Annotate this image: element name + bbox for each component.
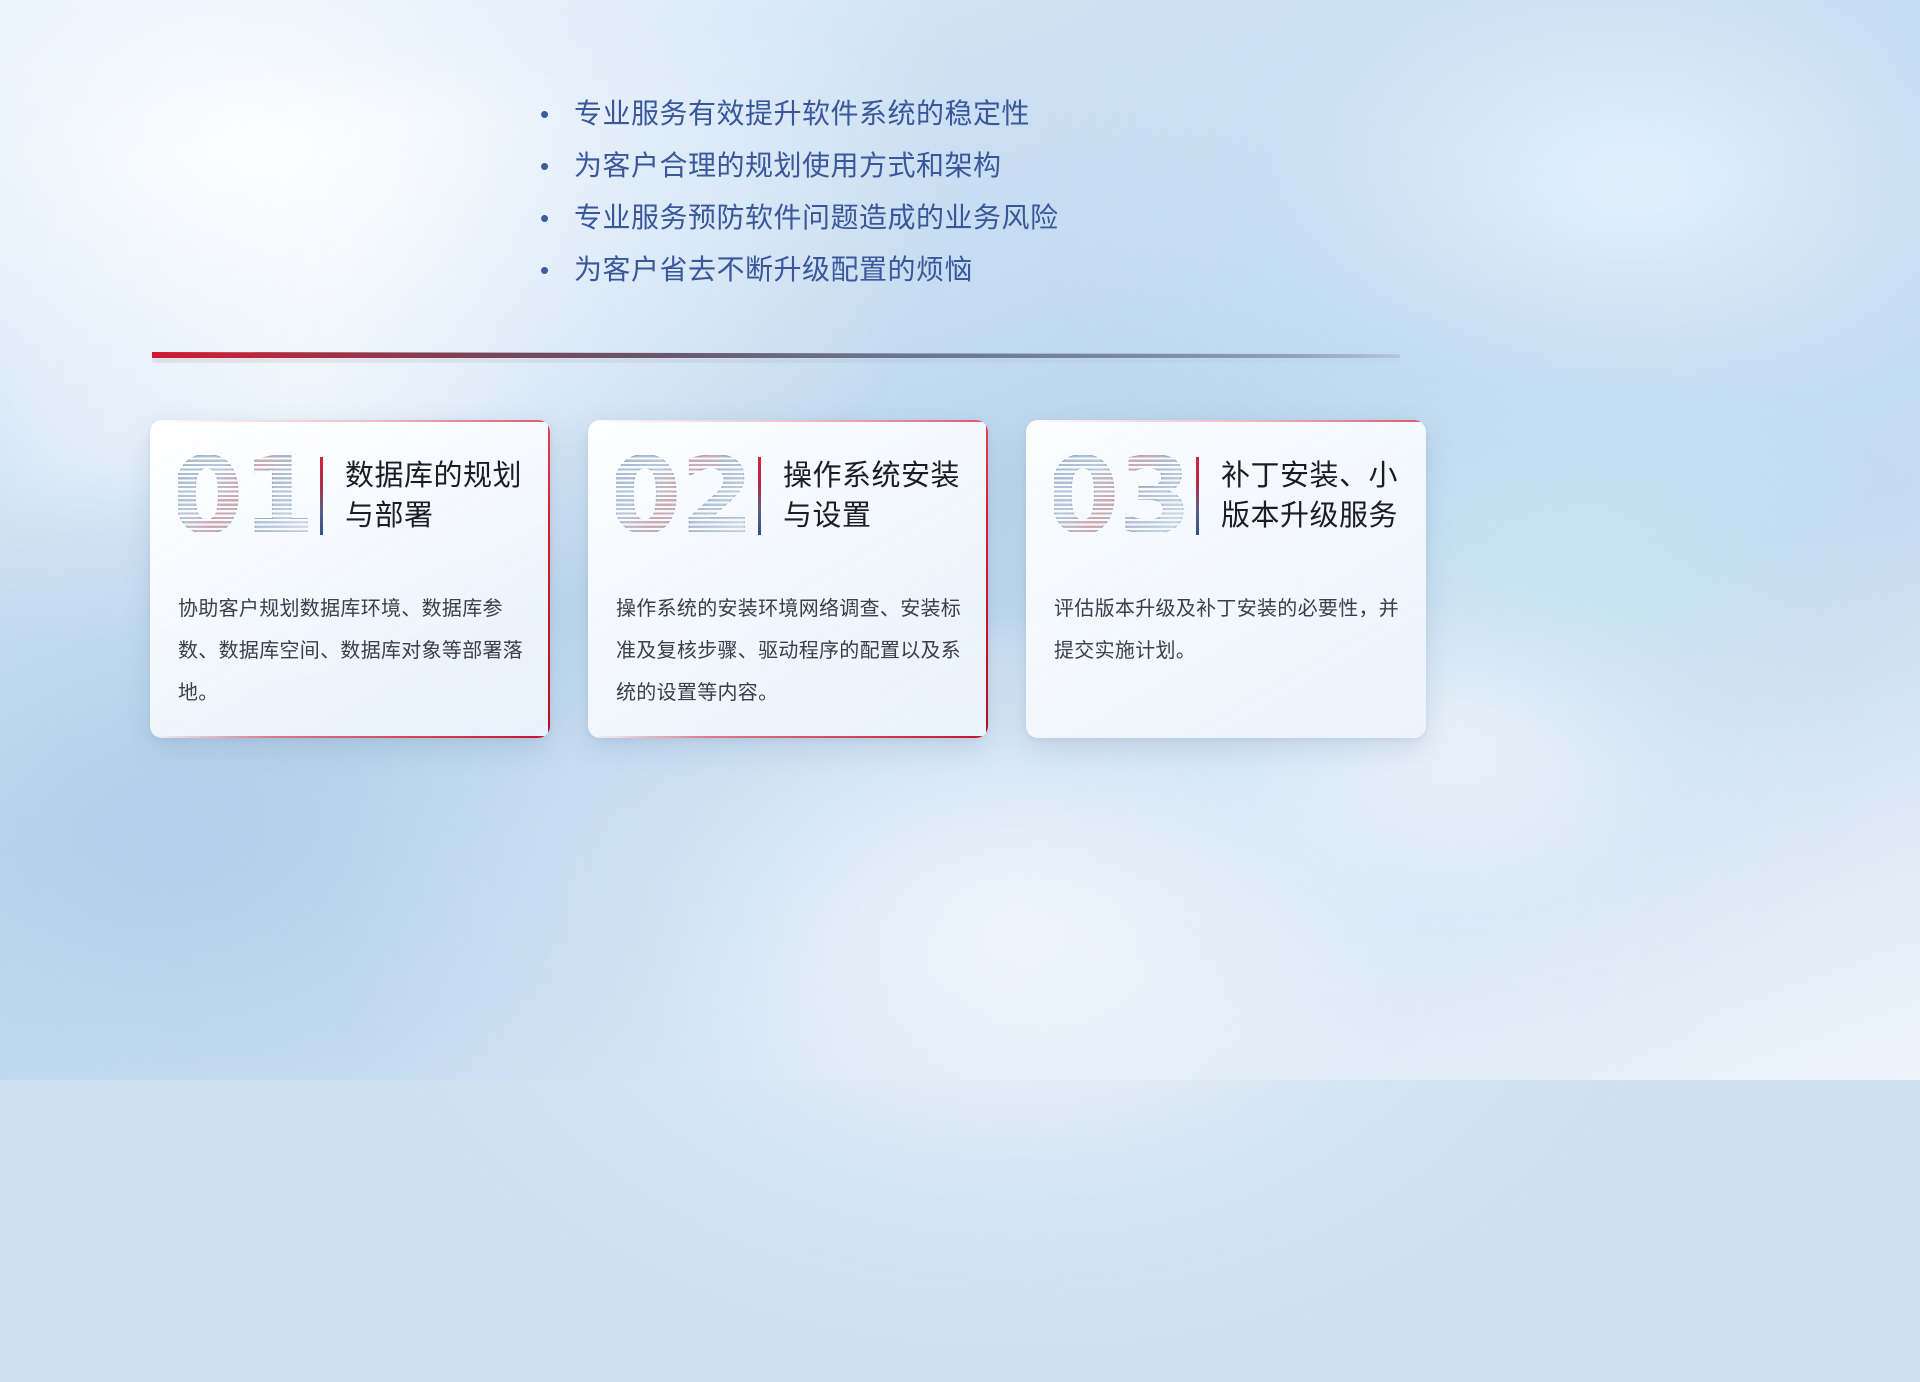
card-number-text: 02	[616, 442, 746, 550]
service-card-02[interactable]: 02 操作系统安装与设置 操作系统的安装环境网络调查、安装标准及复核步骤、驱动程…	[588, 420, 988, 738]
card-number-text: 01	[178, 442, 308, 550]
section-divider	[152, 348, 1400, 364]
card-number-watermark: 03	[1054, 442, 1184, 550]
card-title-accent-bar	[1196, 457, 1199, 535]
card-number-watermark: 02	[616, 442, 746, 550]
bullet-marker-icon: •	[540, 140, 574, 192]
bullet-text: 专业服务预防软件问题造成的业务风险	[574, 192, 1059, 244]
card-title: 数据库的规划与部署	[345, 456, 550, 536]
card-title: 补丁安装、小版本升级服务	[1221, 456, 1426, 536]
card-body-text: 协助客户规划数据库环境、数据库参数、数据库空间、数据库对象等部署落地。	[150, 572, 550, 714]
card-header: 01 数据库的规划与部署	[150, 420, 550, 572]
card-body-text: 评估版本升级及补丁安装的必要性，并提交实施计划。	[1026, 572, 1426, 672]
card-number-text: 03	[1054, 442, 1184, 550]
feature-bullet-list: • 专业服务有效提升软件系统的稳定性 • 为客户合理的规划使用方式和架构 • 专…	[540, 88, 1240, 296]
card-header: 03 补丁安装、小版本升级服务	[1026, 420, 1426, 572]
divider-bar	[152, 352, 1400, 358]
bullet-text: 专业服务有效提升软件系统的稳定性	[574, 88, 1030, 140]
card-header: 02 操作系统安装与设置	[588, 420, 988, 572]
card-body-text: 操作系统的安装环境网络调查、安装标准及复核步骤、驱动程序的配置以及系统的设置等内…	[588, 572, 988, 714]
card-top-accent	[588, 420, 988, 422]
card-title-accent-bar	[320, 457, 323, 535]
service-card-03[interactable]: 03 补丁安装、小版本升级服务 评估版本升级及补丁安装的必要性，并提交实施计划。	[1026, 420, 1426, 738]
card-top-accent	[150, 420, 550, 422]
bullet-text: 为客户省去不断升级配置的烦恼	[574, 244, 973, 296]
list-item: • 为客户省去不断升级配置的烦恼	[540, 244, 1240, 296]
card-title: 操作系统安装与设置	[783, 456, 988, 536]
service-card-group: 01 数据库的规划与部署 协助客户规划数据库环境、数据库参数、数据库空间、数据库…	[150, 420, 1770, 750]
card-number-watermark: 01	[178, 442, 308, 550]
card-top-accent	[1026, 420, 1426, 422]
bullet-marker-icon: •	[540, 244, 574, 296]
bullet-marker-icon: •	[540, 192, 574, 244]
list-item: • 为客户合理的规划使用方式和架构	[540, 140, 1240, 192]
card-title-accent-bar	[758, 457, 761, 535]
bullet-text: 为客户合理的规划使用方式和架构	[574, 140, 1002, 192]
list-item: • 专业服务有效提升软件系统的稳定性	[540, 88, 1240, 140]
list-item: • 专业服务预防软件问题造成的业务风险	[540, 192, 1240, 244]
divider-shadow	[152, 358, 1400, 363]
bullet-marker-icon: •	[540, 88, 574, 140]
service-card-01[interactable]: 01 数据库的规划与部署 协助客户规划数据库环境、数据库参数、数据库空间、数据库…	[150, 420, 550, 738]
